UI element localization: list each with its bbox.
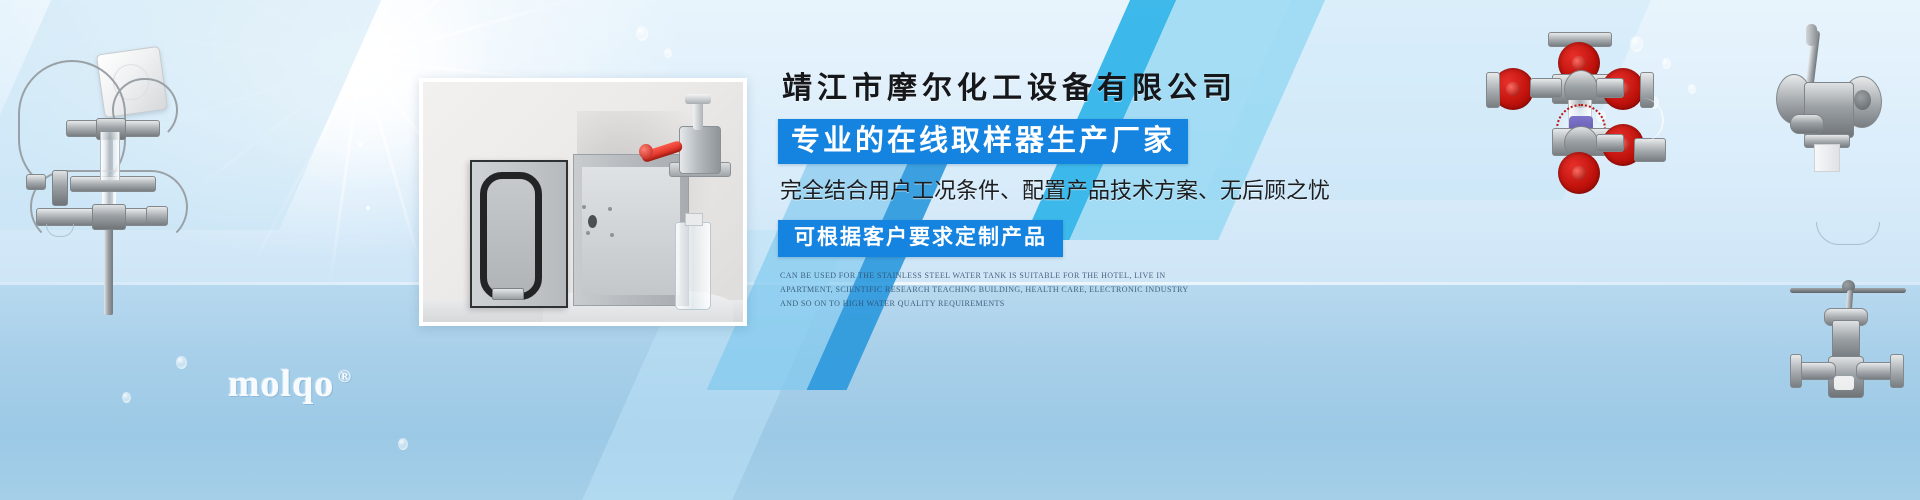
water-droplet-icon [664, 48, 672, 58]
end-flange-left [26, 174, 46, 190]
water-droplet-icon [122, 392, 131, 403]
product-photo [423, 82, 743, 322]
banner-text-block: 靖江市摩尔化工设备有限公司 专业的在线取样器生产厂家 完全结合用户工况条件、配置… [778, 70, 1398, 311]
english-description: CAN BE USED FOR THE STAINLESS STEEL WATE… [780, 269, 1200, 311]
tagline-badge: 可根据客户要求定制产品 [778, 220, 1063, 257]
end-flange-right [146, 206, 168, 226]
relief-valve [52, 170, 68, 206]
sample-bottle [675, 222, 711, 310]
red-handwheel-cross-valve-manifold [1486, 26, 1686, 166]
outlet-nozzle [1814, 144, 1840, 172]
registered-mark-icon: ® [338, 367, 352, 386]
flange-bore [1854, 90, 1871, 110]
brand-watermark: molqo® [228, 362, 352, 406]
water-droplet-icon [176, 356, 187, 369]
drain-tube [1636, 98, 1664, 142]
company-name: 靖江市摩尔化工设备有限公司 [782, 70, 1398, 108]
valve-block-lower [92, 204, 126, 230]
overhead-arc [1816, 222, 1880, 245]
promo-banner: 靖江市摩尔化工设备有限公司 专业的在线取样器生产厂家 完全结合用户工况条件、配置… [0, 0, 1920, 500]
water-droplet-icon [636, 26, 648, 41]
sight-glass [100, 132, 120, 180]
headline-badge: 专业的在线取样器生产厂家 [778, 119, 1188, 164]
subline-text: 完全结合用户工况条件、配置产品技术方案、无后顾之忧 [780, 177, 1398, 206]
sparkle-icon [366, 206, 370, 210]
red-handwheel-icon [1558, 152, 1600, 194]
pole-mounted-sampler-illustration [8, 20, 208, 310]
sampling-valve-head [659, 100, 737, 188]
flanged-lever-sampling-valve [1770, 22, 1910, 207]
cabinet-door-open [470, 160, 568, 308]
product-photo-frame [419, 78, 747, 326]
water-droplet-icon [398, 438, 408, 450]
watermark-text: molqo [228, 363, 334, 405]
water-droplet-icon [1688, 84, 1696, 94]
handwheel-flanged-sampling-valve [1790, 236, 1910, 406]
sparkle-icon [358, 142, 363, 147]
